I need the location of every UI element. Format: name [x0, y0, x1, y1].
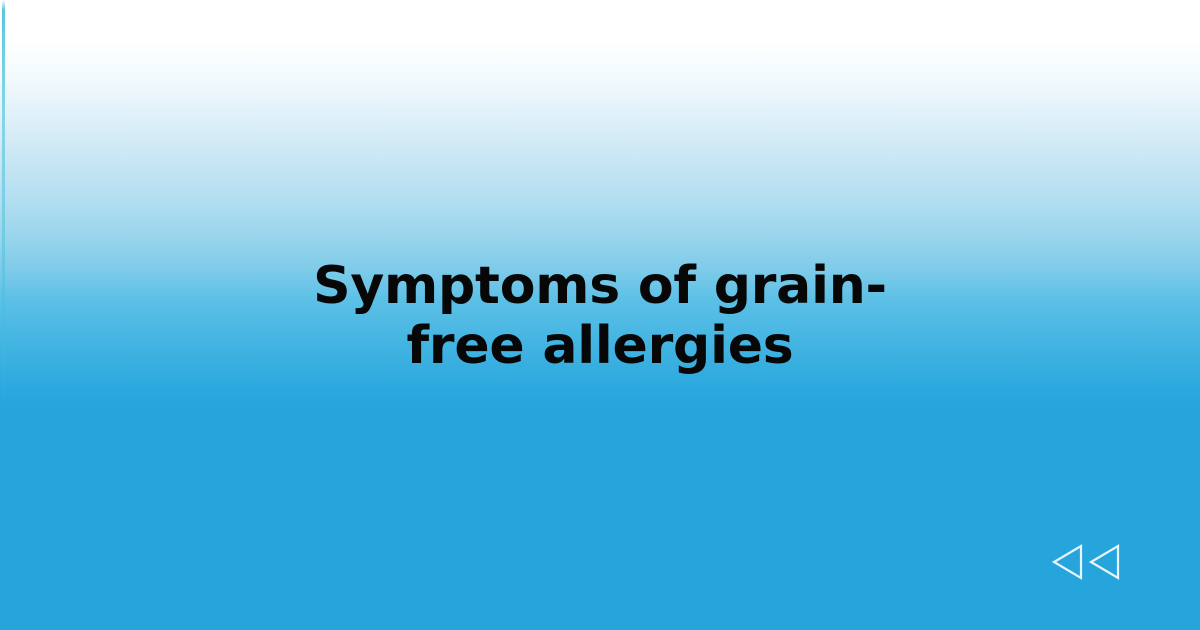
navigation-controls[interactable]	[1051, 543, 1120, 581]
rewind-triangle-left-first-icon[interactable]	[1051, 543, 1083, 581]
social-card: Symptoms of grain-free allergies	[0, 0, 1200, 630]
rewind-triangle-left-second-icon[interactable]	[1088, 543, 1120, 581]
title-container: Symptoms of grain-free allergies	[0, 256, 1200, 377]
card-title: Symptoms of grain-free allergies	[280, 256, 920, 377]
